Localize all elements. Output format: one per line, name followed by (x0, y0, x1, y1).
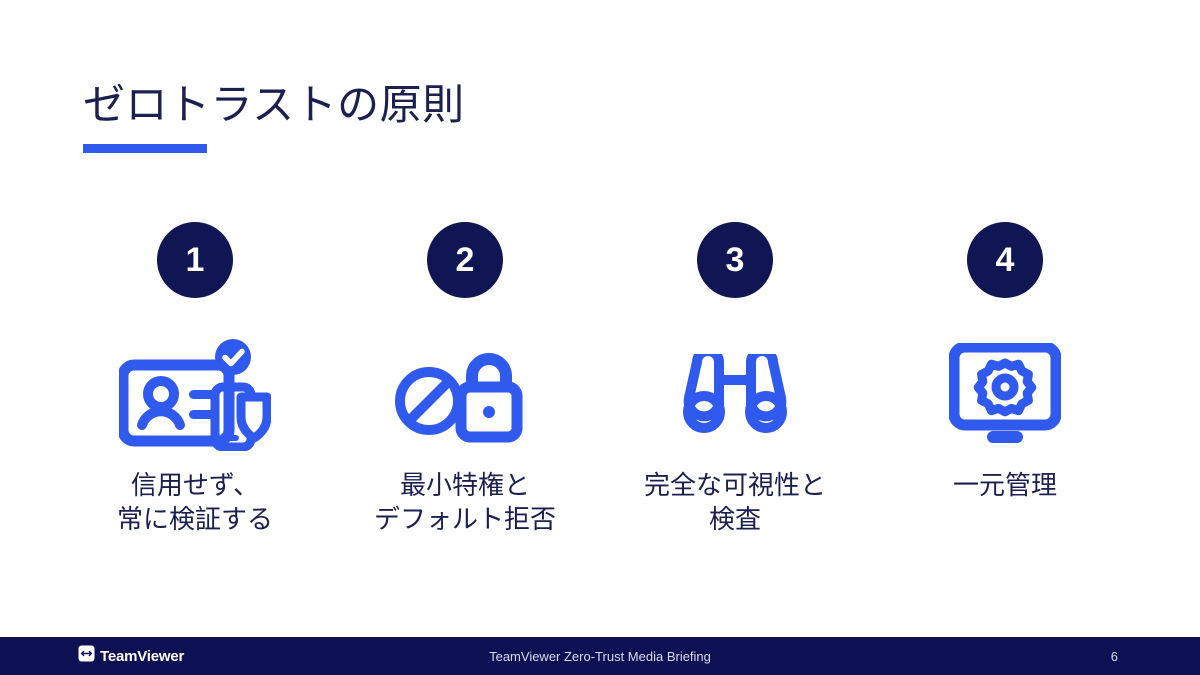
principle-column-4: 4 一元管理 (870, 222, 1140, 502)
principle-number-badge-3: 3 (697, 222, 773, 298)
title-block: ゼロトラストの原則 (83, 80, 465, 153)
principle-caption-1: 信用せず、 常に検証する (117, 468, 273, 537)
page-title: ゼロトラストの原則 (83, 80, 465, 130)
principle-caption-3: 完全な可視性と 検査 (644, 468, 826, 537)
footer-bar: TeamViewer TeamViewer Zero-Trust Media B… (0, 637, 1200, 675)
principle-column-1: 1 信用せず、 (60, 222, 330, 537)
principle-column-2: 2 最小特権と デフォルト拒否 (330, 222, 600, 537)
monitor-gear-icon (949, 336, 1061, 454)
principle-number-badge-1: 1 (157, 222, 233, 298)
principles-row: 1 信用せず、 (60, 222, 1140, 537)
principle-caption-2: 最小特権と デフォルト拒否 (374, 468, 556, 537)
slide: ゼロトラストの原則 1 (0, 0, 1200, 675)
binoculars-icon (683, 336, 787, 454)
id-card-verified-device-icon (119, 336, 271, 454)
title-underline-rule (83, 144, 207, 153)
principle-number-badge-4: 4 (967, 222, 1043, 298)
principle-column-3: 3 完全な可視性と 検査 (600, 222, 870, 537)
principle-number-badge-2: 2 (427, 222, 503, 298)
footer-title: TeamViewer Zero-Trust Media Briefing (0, 649, 1200, 664)
principle-caption-4: 一元管理 (953, 468, 1057, 502)
page-number: 6 (1111, 649, 1118, 664)
no-entry-padlock-icon (395, 336, 535, 454)
